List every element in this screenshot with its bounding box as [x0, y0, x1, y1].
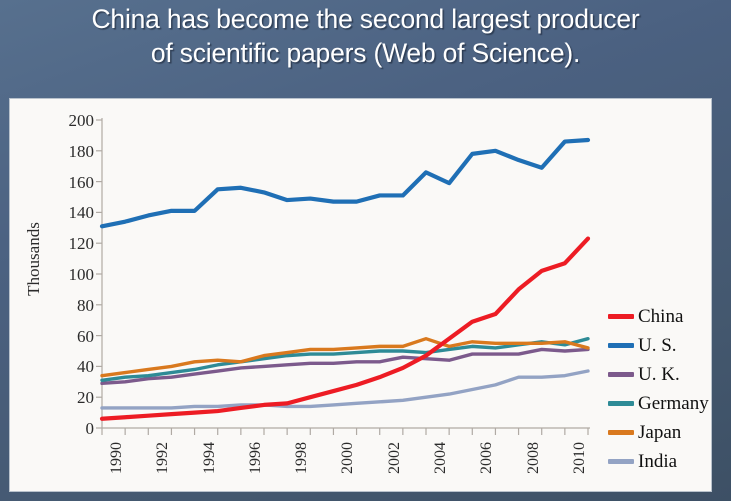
legend-swatch-icon	[608, 459, 634, 464]
chart-panel: Thousands 200180160140120100806040200 19…	[9, 98, 712, 492]
x-axis-tick-label: 1996	[247, 442, 265, 474]
legend-item-label: U. K.	[638, 365, 680, 384]
x-axis-tick-label: 2010	[571, 442, 589, 474]
legend-item-india[interactable]: India	[608, 447, 712, 476]
x-axis-tick-label: 2002	[386, 442, 404, 474]
legend-item-u-s[interactable]: U. S.	[608, 331, 712, 360]
x-axis-tick-label: 1998	[293, 442, 311, 474]
legend-item-japan[interactable]: Japan	[608, 418, 712, 447]
legend-swatch-icon	[608, 401, 634, 406]
legend-swatch-icon	[608, 343, 634, 348]
x-axis-tick-label: 2006	[478, 442, 496, 474]
legend-item-label: China	[638, 307, 683, 326]
x-axis-tick-label: 1992	[154, 442, 172, 474]
legend-swatch-icon	[608, 372, 634, 377]
x-axis-tick-label: 2004	[432, 442, 450, 474]
x-axis-tick-label: 2000	[339, 442, 357, 474]
page-title: China has become the second largest prod…	[0, 2, 731, 70]
legend-item-label: Germany	[638, 394, 709, 413]
x-axis-tick-label: 1994	[201, 442, 219, 474]
chart-legend: ChinaU. S.U. K.GermanyJapanIndia	[608, 302, 712, 476]
x-axis-tick-label: 2008	[525, 442, 543, 474]
legend-item-china[interactable]: China	[608, 302, 712, 331]
legend-item-label: U. S.	[638, 336, 677, 355]
x-axis-tick-label: 1990	[108, 442, 126, 474]
legend-swatch-icon	[608, 314, 634, 319]
legend-swatch-icon	[608, 430, 634, 435]
legend-item-label: India	[638, 452, 677, 471]
legend-item-u-k[interactable]: U. K.	[608, 360, 712, 389]
slide-root: China has become the second largest prod…	[0, 0, 731, 501]
legend-item-germany[interactable]: Germany	[608, 389, 712, 418]
legend-item-label: Japan	[638, 423, 681, 442]
